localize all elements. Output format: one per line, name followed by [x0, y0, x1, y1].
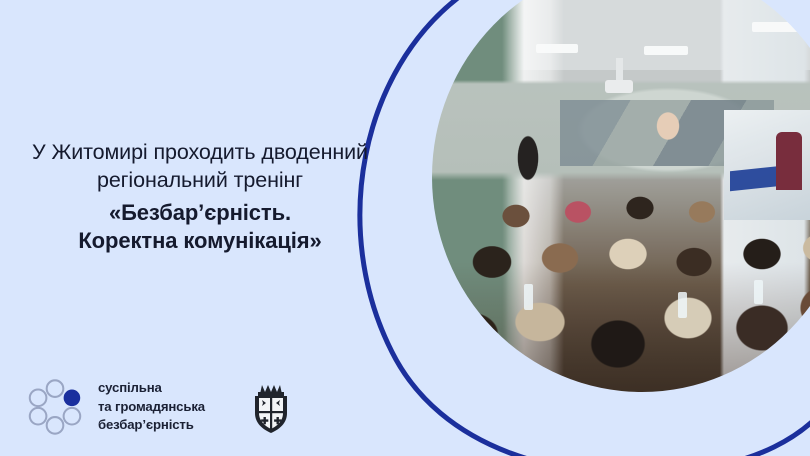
brand-text: суспільна та громадянська безбар’єрність	[98, 379, 205, 435]
barrier-free-dots-logo-icon	[26, 378, 84, 436]
ceiling-lamp-icon	[752, 22, 798, 32]
water-bottle-icon	[678, 292, 687, 318]
zhytomyr-coat-of-arms-icon	[249, 379, 293, 435]
logo-row: суспільна та громадянська безбар’єрність	[26, 378, 293, 436]
training-room-photo	[432, 0, 810, 392]
brand-text-line-2: та громадянська	[98, 398, 205, 417]
ceiling-lamp-icon	[644, 46, 688, 55]
brand-lockup: суспільна та громадянська безбар’єрність	[26, 378, 205, 436]
projector-icon	[605, 80, 633, 93]
rollup-banner-person	[776, 132, 802, 190]
headline-line-1: У Житомирі проходить дводенний	[0, 139, 400, 167]
photo-image	[432, 0, 810, 392]
brand-text-line-3: безбар’єрність	[98, 416, 205, 435]
banner-canvas: У Житомирі проходить дводенний регіональ…	[0, 0, 810, 456]
water-bottle-icon	[524, 284, 533, 310]
brand-text-line-1: суспільна	[98, 379, 205, 398]
headline-block: У Житомирі проходить дводенний регіональ…	[0, 139, 400, 256]
ceiling-lamp-icon	[536, 44, 578, 53]
headline-line-3: «Безбар’єрність.	[0, 199, 400, 228]
water-bottle-icon	[754, 280, 763, 304]
ceiling-lamp-icon	[464, 0, 508, 1]
headline-line-2: регіональний тренінг	[0, 167, 400, 195]
headline-line-4: Коректна комунікація»	[0, 227, 400, 256]
